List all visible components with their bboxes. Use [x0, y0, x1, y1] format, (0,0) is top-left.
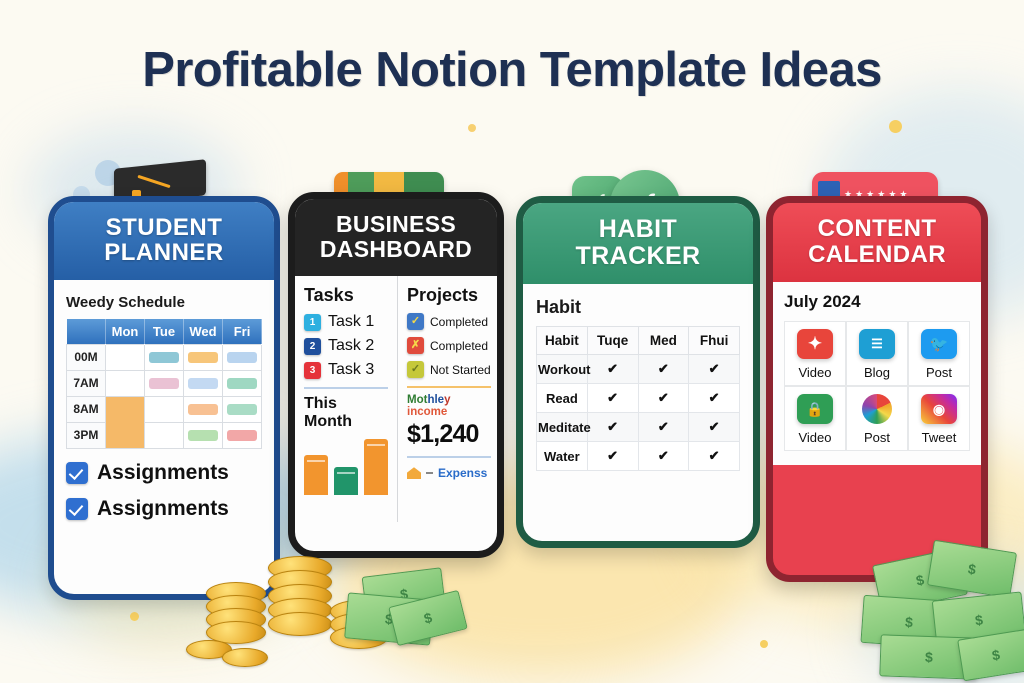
schedule-time-label: 8AM — [67, 396, 106, 422]
schedule-cell — [184, 396, 223, 422]
card-habit-tracker[interactable]: HABIT TRACKER Habit Habit Tuqe Med Fhui … — [516, 196, 760, 548]
income-label-part: income — [407, 406, 447, 418]
schedule-cell — [223, 370, 262, 396]
task-row[interactable]: 1 Task 1 — [304, 313, 388, 331]
habit-name: Workout — [537, 355, 588, 384]
tasks-heading: Tasks — [304, 285, 388, 306]
cross-icon: ✗ — [407, 337, 424, 354]
schedule-row: 3PM — [67, 422, 262, 448]
check-icon: ✓ — [407, 361, 424, 378]
card-title-line1: CONTENT — [777, 216, 977, 242]
paint-speck — [889, 120, 902, 133]
expense-row: Expenss — [407, 466, 491, 480]
schedule-col-mon: Mon — [106, 319, 145, 345]
habit-col-fhui: Fhui — [689, 327, 740, 355]
schedule-cell — [145, 344, 184, 370]
twitter-bird-icon: 🐦 — [921, 329, 957, 359]
projects-heading: Projects — [407, 285, 491, 306]
income-label-part: y — [444, 394, 450, 406]
habit-check[interactable]: ✔ — [689, 384, 740, 413]
task-row[interactable]: 3 Task 3 — [304, 361, 388, 379]
card-title-line2: TRACKER — [527, 243, 749, 270]
content-cell[interactable]: Post — [846, 386, 908, 451]
sparkle-video-icon: ✦ — [797, 329, 833, 359]
income-label: Mothley income — [407, 394, 491, 418]
project-status-label: Completed — [430, 315, 488, 329]
habit-name: Water — [537, 442, 588, 471]
bar — [334, 467, 358, 495]
schedule-time-label: 7AM — [67, 370, 106, 396]
content-label: Blog — [864, 365, 890, 380]
card-title-line1: BUSINESS — [299, 212, 493, 237]
schedule-cell — [223, 344, 262, 370]
project-row[interactable]: ✓ Not Started — [407, 361, 491, 378]
content-cell[interactable]: ☰ Blog — [846, 321, 908, 386]
task-number-badge: 3 — [304, 362, 321, 379]
habit-check[interactable]: ✔ — [587, 384, 638, 413]
habit-col-tuqe: Tuqe — [587, 327, 638, 355]
schedule-table: Mon Tue Wed Fri 00M 7AM — [66, 319, 262, 449]
project-row[interactable]: ✗ Completed — [407, 337, 491, 354]
schedule-cell — [145, 422, 184, 448]
habit-row: Meditate ✔ ✔ ✔ — [537, 413, 740, 442]
content-label: Post — [926, 365, 952, 380]
divider — [304, 387, 388, 389]
habit-row: Workout ✔ ✔ ✔ — [537, 355, 740, 384]
content-cell[interactable]: 🔒 Video — [784, 386, 846, 451]
schedule-col-wed: Wed — [184, 319, 223, 345]
chat-bubble-icon: ☰ — [859, 329, 895, 359]
schedule-cell — [106, 344, 145, 370]
card-business-dashboard[interactable]: BUSINESS DASHBOARD Tasks 1 Task 1 2 Task… — [288, 192, 504, 558]
card-title-line2: CALENDAR — [777, 242, 977, 268]
section-title-weekly-schedule: Weedy Schedule — [66, 294, 262, 311]
habit-check[interactable]: ✔ — [587, 413, 638, 442]
schedule-col-time — [67, 319, 106, 345]
content-label: Tweet — [922, 430, 957, 445]
card-header-business-dashboard: BUSINESS DASHBOARD — [295, 199, 497, 276]
schedule-time-label: 3PM — [67, 422, 106, 448]
page-title: Profitable Notion Template Ideas — [0, 42, 1024, 98]
habit-name: Read — [537, 384, 588, 413]
habit-name: Meditate — [537, 413, 588, 442]
habit-check[interactable]: ✔ — [638, 355, 689, 384]
card-title-line1: STUDENT — [58, 215, 270, 240]
habit-check[interactable]: ✔ — [638, 384, 689, 413]
content-label: Post — [864, 430, 890, 445]
schedule-cell — [184, 370, 223, 396]
card-header-habit-tracker: HABIT TRACKER — [523, 203, 753, 284]
content-grid: ✦ Video ☰ Blog 🐦 Post 🔒 Video Post — [784, 321, 970, 451]
schedule-cell — [223, 396, 262, 422]
bar — [364, 439, 388, 495]
checklist-item-assignments-1[interactable]: Assignments — [66, 461, 262, 485]
habit-col-med: Med — [638, 327, 689, 355]
income-label-part: hle — [427, 394, 444, 406]
card-title-line2: DASHBOARD — [299, 237, 493, 262]
task-row[interactable]: 2 Task 2 — [304, 337, 388, 355]
task-number-badge: 2 — [304, 338, 321, 355]
expense-marker-icon — [407, 467, 421, 479]
schedule-cell — [223, 422, 262, 448]
divider — [407, 386, 491, 388]
content-cell[interactable]: 🐦 Post — [908, 321, 970, 386]
schedule-row: 00M — [67, 344, 262, 370]
schedule-cell — [106, 396, 145, 448]
checklist-item-assignments-2[interactable]: Assignments — [66, 497, 262, 521]
dash-icon — [426, 472, 433, 474]
schedule-cell — [106, 370, 145, 396]
content-label: Video — [798, 430, 831, 445]
month-heading: This Month — [304, 395, 388, 431]
paint-speck — [468, 124, 476, 132]
monthly-bar-chart — [304, 437, 388, 495]
card-title-line1: HABIT — [527, 216, 749, 243]
schedule-row: 8AM — [67, 396, 262, 422]
habit-row: Read ✔ ✔ ✔ — [537, 384, 740, 413]
calendar-month-label: July 2024 — [784, 292, 970, 312]
schedule-time-label: 00M — [67, 344, 106, 370]
card-student-planner[interactable]: STUDENT PLANNER Weedy Schedule Mon Tue W… — [48, 196, 280, 600]
checklist-label: Assignments — [97, 497, 229, 521]
habit-header-row: Habit Tuqe Med Fhui — [537, 327, 740, 355]
project-status-label: Not Started — [430, 363, 491, 377]
schedule-col-fri: Fri — [223, 319, 262, 345]
task-label: Task 1 — [328, 313, 374, 331]
content-cell[interactable]: ✦ Video — [784, 321, 846, 386]
card-header-student-planner: STUDENT PLANNER — [54, 202, 274, 280]
check-icon: ✓ — [407, 313, 424, 330]
poster-canvas: Profitable Notion Template Ideas STUDENT… — [0, 0, 1024, 683]
habit-col-habit: Habit — [537, 327, 588, 355]
divider — [407, 456, 491, 458]
expense-label: Expenss — [438, 466, 487, 480]
project-status-label: Completed — [430, 339, 488, 353]
habit-check[interactable]: ✔ — [638, 413, 689, 442]
habit-check[interactable]: ✔ — [689, 355, 740, 384]
task-label: Task 2 — [328, 337, 374, 355]
section-title-habit: Habit — [536, 297, 740, 318]
instagram-icon: ◉ — [921, 394, 957, 424]
content-label: Video — [798, 365, 831, 380]
schedule-cell — [145, 396, 184, 422]
habit-check[interactable]: ✔ — [587, 355, 638, 384]
schedule-row: 7AM — [67, 370, 262, 396]
habit-check[interactable]: ✔ — [587, 442, 638, 471]
habit-row: Water ✔ ✔ ✔ — [537, 442, 740, 471]
task-label: Task 3 — [328, 361, 374, 379]
habit-table: Habit Tuqe Med Fhui Workout ✔ ✔ ✔ Read ✔ — [536, 326, 740, 471]
project-row[interactable]: ✓ Completed — [407, 313, 491, 330]
checklist-label: Assignments — [97, 461, 229, 485]
income-value: $1,240 — [407, 420, 491, 449]
schedule-cell — [184, 344, 223, 370]
card-title-line2: PLANNER — [58, 240, 270, 265]
bar — [304, 455, 328, 495]
schedule-cell — [184, 422, 223, 448]
content-cell[interactable]: ◉ Tweet — [908, 386, 970, 451]
schedule-cell — [145, 370, 184, 396]
checkbox-checked-icon[interactable] — [66, 498, 88, 520]
card-header-content-calendar: CONTENT CALENDAR — [773, 203, 981, 282]
habit-check[interactable]: ✔ — [689, 413, 740, 442]
card-content-calendar[interactable]: CONTENT CALENDAR July 2024 ✦ Video ☰ Blo… — [766, 196, 988, 582]
pie-chart-icon — [862, 394, 892, 424]
schedule-header-row: Mon Tue Wed Fri — [67, 319, 262, 345]
income-label-part: Mot — [407, 394, 427, 406]
schedule-col-tue: Tue — [145, 319, 184, 345]
paint-speck — [130, 612, 139, 621]
task-number-badge: 1 — [304, 314, 321, 331]
habit-check[interactable]: ✔ — [689, 442, 740, 471]
habit-check[interactable]: ✔ — [638, 442, 689, 471]
paint-speck — [760, 640, 768, 648]
checkbox-checked-icon[interactable] — [66, 462, 88, 484]
lock-icon: 🔒 — [797, 394, 833, 424]
